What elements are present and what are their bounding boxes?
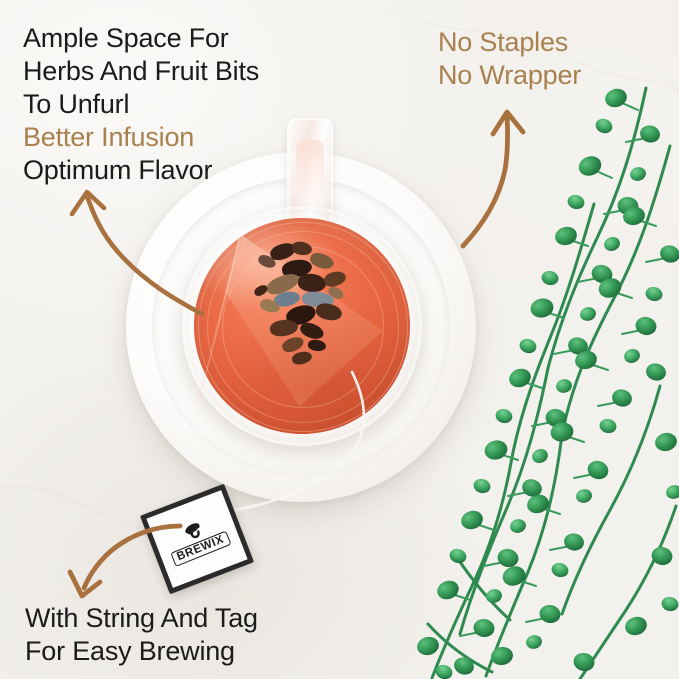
brand-tag: BREWIX	[140, 484, 254, 595]
callout-line: Optimum Flavor	[23, 154, 259, 187]
callout-line: To Unfurl	[23, 88, 259, 121]
callout-line: Ample Space For	[23, 22, 259, 55]
callout-text-accent: Easy Brewing	[72, 636, 235, 666]
arrow-to-no-staples	[455, 100, 575, 250]
pyramid-tea-bag	[222, 232, 390, 408]
callout-line: Herbs And Fruit Bits	[23, 55, 259, 88]
callout-line: With String And Tag	[25, 602, 258, 635]
callout-line-accent: No Staples	[438, 26, 581, 59]
infographic-canvas: BREWIX	[0, 0, 679, 679]
herbs-and-fruit-bits	[252, 242, 364, 370]
callout-text-plain: For	[25, 636, 72, 666]
callout-line-accent: No Wrapper	[438, 59, 581, 92]
no-staples-callout: No Staples No Wrapper	[438, 26, 581, 92]
ample-space-callout: Ample Space For Herbs And Fruit Bits To …	[23, 22, 259, 187]
callout-line: For Easy Brewing	[25, 635, 258, 668]
brand-tag-content: BREWIX	[163, 512, 231, 567]
string-and-tag-callout: With String And Tag For Easy Brewing	[25, 602, 258, 668]
callout-line-accent: Better Infusion	[23, 121, 259, 154]
